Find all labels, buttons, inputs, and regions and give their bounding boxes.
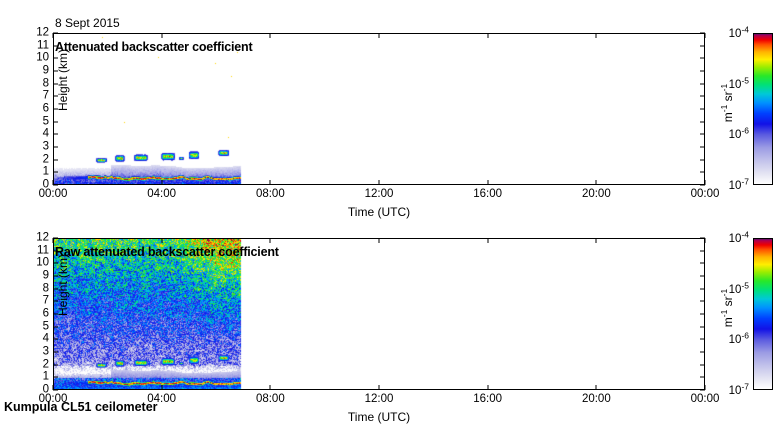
y-tick-label: 3 <box>43 141 49 153</box>
y-tick-label: 1 <box>43 167 49 179</box>
y-tick-mark <box>53 172 58 173</box>
y-tick-label: 9 <box>43 65 49 77</box>
y-tick-mark <box>700 301 705 302</box>
y-tick-label: 5 <box>43 321 49 333</box>
y-tick-mark <box>700 377 705 378</box>
y-tick-mark <box>700 339 705 340</box>
panel-title-top: Attenuated backscatter coefficient <box>55 40 252 54</box>
y-tick-mark <box>53 71 58 72</box>
x-tick-label: 16:00 <box>473 394 502 406</box>
x-tick-mark <box>270 180 271 185</box>
y-tick-label: 2 <box>43 359 49 371</box>
y-tick-mark <box>53 288 58 289</box>
x-tick-mark <box>487 33 488 38</box>
panel-raw-attenuated-backscatter: Raw attenuated backscatter coefficient H… <box>53 238 705 390</box>
x-tick-mark <box>596 385 597 390</box>
y-tick-mark <box>700 58 705 59</box>
y-tick-label: 11 <box>37 245 49 257</box>
x-tick-mark <box>487 238 488 243</box>
x-tick-mark <box>596 180 597 185</box>
y-tick-mark <box>700 314 705 315</box>
colorbar-gradient-box-top <box>753 33 773 185</box>
y-tick-mark <box>700 83 705 84</box>
y-tick-label: 6 <box>43 308 49 320</box>
colorbar-gradient-bottom <box>754 239 772 389</box>
y-tick-mark <box>53 147 58 148</box>
y-tick-label: 4 <box>43 129 49 141</box>
plot-area-top[interactable] <box>53 33 705 185</box>
y-tick-mark <box>53 238 58 239</box>
colorbar-bottom: m-1 sr-1 10-410-510-610-7 <box>753 238 773 390</box>
y-tick-mark <box>53 364 58 365</box>
y-tick-label: 11 <box>37 40 49 52</box>
y-tick-mark <box>700 121 705 122</box>
colorbar-gradient-box-bottom <box>753 238 773 390</box>
y-tick-mark <box>53 185 58 186</box>
y-tick-mark <box>53 339 58 340</box>
x-tick-mark <box>379 385 380 390</box>
x-tick-label: 08:00 <box>256 189 285 201</box>
x-axis-label-top: Time (UTC) <box>53 205 705 219</box>
y-tick-label: 3 <box>43 346 49 358</box>
footer-caption: Kumpula CL51 ceilometer <box>4 400 158 414</box>
y-tick-mark <box>53 159 58 160</box>
colorbar-tick-label: 10-6 <box>729 127 749 142</box>
x-tick-mark <box>596 33 597 38</box>
colorbar-tick-label: 10-5 <box>729 281 749 296</box>
x-tick-mark <box>596 238 597 243</box>
x-tick-mark <box>705 238 706 243</box>
y-tick-mark <box>700 45 705 46</box>
y-tick-mark <box>700 71 705 72</box>
y-tick-mark <box>700 172 705 173</box>
y-tick-label: 12 <box>36 27 49 39</box>
colorbar-tick-label: 10-6 <box>729 332 749 347</box>
x-tick-label: 20:00 <box>582 189 611 201</box>
x-tick-label: 00:00 <box>691 189 720 201</box>
x-tick-mark <box>53 385 54 390</box>
y-tick-label: 9 <box>43 270 49 282</box>
y-tick-mark <box>53 58 58 59</box>
y-tick-mark <box>700 250 705 251</box>
x-tick-label: 12:00 <box>365 394 394 406</box>
x-tick-mark <box>379 180 380 185</box>
x-tick-mark <box>161 385 162 390</box>
x-tick-mark <box>270 238 271 243</box>
x-tick-mark <box>161 180 162 185</box>
y-tick-mark <box>700 352 705 353</box>
y-tick-mark <box>53 109 58 110</box>
y-tick-mark <box>53 301 58 302</box>
ceilometer-quicklook-figure: 8 Sept 2015 Attenuated backscatter coeff… <box>0 0 780 420</box>
y-tick-mark <box>700 288 705 289</box>
x-tick-mark <box>53 180 54 185</box>
x-tick-mark <box>379 33 380 38</box>
x-tick-label: 12:00 <box>365 189 394 201</box>
y-tick-mark <box>53 263 58 264</box>
y-tick-mark <box>700 276 705 277</box>
colorbar-tick-label: 10-4 <box>729 25 749 40</box>
panel-attenuated-backscatter: Attenuated backscatter coefficient Heigh… <box>53 33 705 185</box>
x-tick-mark <box>379 238 380 243</box>
y-tick-label: 10 <box>36 258 49 270</box>
date-label: 8 Sept 2015 <box>55 16 120 30</box>
x-tick-mark <box>705 385 706 390</box>
y-tick-mark <box>53 134 58 135</box>
y-tick-mark <box>700 147 705 148</box>
colorbar-tick-label: 10-5 <box>729 76 749 91</box>
y-tick-mark <box>53 390 58 391</box>
panel-title-bottom: Raw attenuated backscatter coefficient <box>55 245 279 259</box>
colorbar-top: m-1 sr-1 10-410-510-610-7 <box>753 33 773 185</box>
y-tick-mark <box>700 364 705 365</box>
x-tick-mark <box>270 33 271 38</box>
y-tick-mark <box>53 377 58 378</box>
y-tick-label: 8 <box>43 283 49 295</box>
plot-area-bottom[interactable] <box>53 238 705 390</box>
x-tick-mark <box>161 238 162 243</box>
y-tick-mark <box>53 326 58 327</box>
x-tick-label: 08:00 <box>256 394 285 406</box>
y-tick-mark <box>700 326 705 327</box>
y-tick-label: 7 <box>43 296 49 308</box>
x-tick-label: 16:00 <box>473 189 502 201</box>
x-tick-mark <box>161 33 162 38</box>
y-tick-label: 7 <box>43 91 49 103</box>
x-tick-mark <box>270 385 271 390</box>
y-tick-mark <box>53 276 58 277</box>
y-tick-label: 6 <box>43 103 49 115</box>
colorbar-tick-label: 10-7 <box>729 382 749 397</box>
y-tick-mark <box>53 83 58 84</box>
y-tick-mark <box>53 33 58 34</box>
colorbar-gradient-top <box>754 34 772 184</box>
y-tick-mark <box>53 96 58 97</box>
x-tick-mark <box>705 33 706 38</box>
y-tick-mark <box>53 314 58 315</box>
x-tick-mark <box>53 33 54 38</box>
y-tick-label: 10 <box>36 53 49 65</box>
y-tick-label: 4 <box>43 334 49 346</box>
y-tick-label: 2 <box>43 154 49 166</box>
heatmap-canvas-top <box>54 34 705 185</box>
y-tick-label: 5 <box>43 116 49 128</box>
y-tick-label: 12 <box>36 232 49 244</box>
y-tick-mark <box>53 121 58 122</box>
y-tick-mark <box>700 134 705 135</box>
y-tick-label: 1 <box>43 372 49 384</box>
heatmap-canvas-bottom <box>54 239 705 390</box>
x-tick-mark <box>487 180 488 185</box>
x-tick-label: 00:00 <box>691 394 720 406</box>
colorbar-tick-label: 10-7 <box>729 177 749 192</box>
y-tick-mark <box>700 96 705 97</box>
x-tick-mark <box>53 238 54 243</box>
y-tick-mark <box>700 109 705 110</box>
x-tick-mark <box>487 385 488 390</box>
y-tick-label: 8 <box>43 78 49 90</box>
colorbar-tick-label: 10-4 <box>729 230 749 245</box>
y-tick-mark <box>53 352 58 353</box>
x-tick-label: 00:00 <box>39 189 68 201</box>
x-tick-label: 20:00 <box>582 394 611 406</box>
x-tick-mark <box>705 180 706 185</box>
y-tick-mark <box>700 263 705 264</box>
y-tick-mark <box>700 159 705 160</box>
x-tick-label: 04:00 <box>147 189 176 201</box>
